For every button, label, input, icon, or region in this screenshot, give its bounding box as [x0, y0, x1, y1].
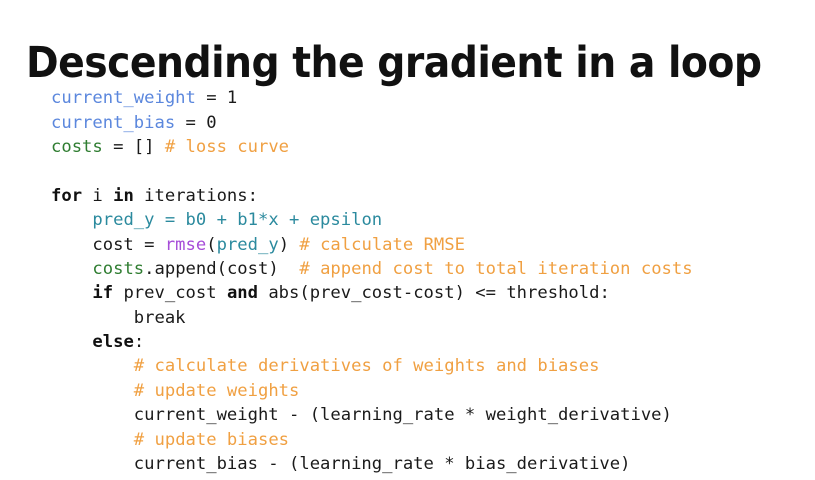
code-token: =	[196, 88, 227, 108]
code-token: cost =	[51, 235, 165, 255]
code-line: break	[51, 306, 806, 330]
code-token: )	[279, 235, 300, 255]
code-token: costs	[51, 137, 103, 157]
code-token: break	[51, 308, 186, 328]
code-line: costs.append(cost) # append cost to tota…	[51, 257, 806, 281]
code-token	[51, 430, 134, 450]
code-line: # update weights	[51, 379, 806, 403]
code-line: for i in iterations:	[51, 184, 806, 208]
code-line: # calculate derivatives of weights and b…	[51, 354, 806, 378]
code-block: current_weight = 1current_bias = 0costs …	[51, 86, 806, 476]
code-token: # loss curve	[165, 137, 289, 157]
code-token: abs(prev_cost-cost) <= threshold:	[258, 283, 610, 303]
code-line: current_bias - (learning_rate * bias_der…	[51, 452, 806, 476]
code-line	[51, 159, 806, 183]
code-token: prev_cost	[113, 283, 227, 303]
code-token: and	[227, 283, 258, 303]
code-token	[51, 283, 92, 303]
code-token: rmse	[165, 235, 206, 255]
code-token	[51, 381, 134, 401]
code-line: current_bias = 0	[51, 111, 806, 135]
code-token: costs	[92, 259, 144, 279]
code-token: else	[92, 332, 133, 352]
code-token: # calculate RMSE	[299, 235, 465, 255]
code-token	[51, 210, 92, 230]
code-token: # append cost to total iteration costs	[299, 259, 692, 279]
page-title: Descending the gradient in a loop	[26, 38, 731, 90]
code-line: current_weight = 1	[51, 86, 806, 110]
code-token	[51, 332, 92, 352]
code-line: pred_y = b0 + b1*x + epsilon	[51, 208, 806, 232]
code-token: in	[113, 186, 134, 206]
code-token: if	[92, 283, 113, 303]
code-token: # calculate derivatives of weights and b…	[134, 356, 600, 376]
slide-root: Descending the gradient in a loop curren…	[0, 0, 815, 480]
code-token: # update biases	[134, 430, 289, 450]
code-line: costs = [] # loss curve	[51, 135, 806, 159]
code-token: 0	[206, 113, 216, 133]
code-token: pred_y = b0 + b1*x + epsilon	[92, 210, 382, 230]
code-token: iterations:	[134, 186, 258, 206]
code-line: else:	[51, 330, 806, 354]
code-token: :	[134, 332, 144, 352]
code-token: current_bias	[51, 113, 175, 133]
code-token: = []	[103, 137, 165, 157]
code-line: if prev_cost and abs(prev_cost-cost) <= …	[51, 281, 806, 305]
code-token: (	[206, 235, 216, 255]
code-token: current_weight - (learning_rate * weight…	[51, 405, 672, 425]
code-token: current_weight	[51, 88, 196, 108]
code-token: # update weights	[134, 381, 300, 401]
code-token: 1	[227, 88, 237, 108]
code-token	[51, 356, 134, 376]
code-token: current_bias - (learning_rate * bias_der…	[51, 454, 630, 474]
code-token: .append(cost)	[144, 259, 299, 279]
code-token: pred_y	[217, 235, 279, 255]
code-token: =	[175, 113, 206, 133]
code-line: cost = rmse(pred_y) # calculate RMSE	[51, 233, 806, 257]
code-line: # update biases	[51, 428, 806, 452]
code-token	[51, 259, 92, 279]
code-line: current_weight - (learning_rate * weight…	[51, 403, 806, 427]
code-token: i	[82, 186, 113, 206]
code-token: for	[51, 186, 82, 206]
